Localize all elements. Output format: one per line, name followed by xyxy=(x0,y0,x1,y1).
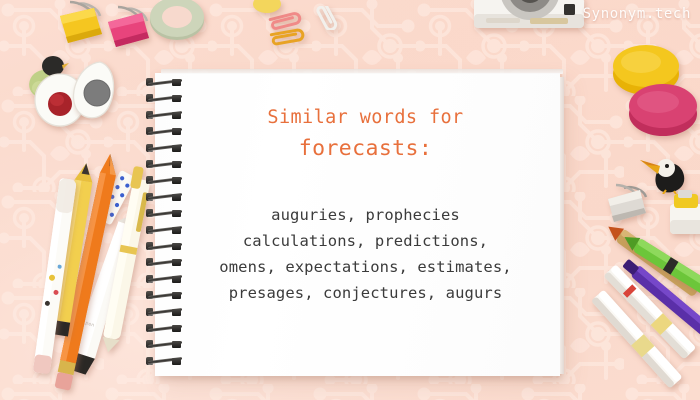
synonym-line: presages, conjectures, augurs xyxy=(185,280,546,306)
spiral-ring xyxy=(146,94,186,102)
synonym-line: calculations, predictions, xyxy=(185,228,546,254)
paperclip-orange xyxy=(266,26,308,48)
spiral-ring xyxy=(146,193,186,201)
spiral-binding xyxy=(146,78,188,373)
spiral-ring xyxy=(146,258,186,266)
sticky-note-yellow xyxy=(252,0,282,14)
spiral-ring xyxy=(146,127,186,135)
camera xyxy=(468,0,592,44)
synonym-line: omens, expectations, estimates, xyxy=(185,254,546,280)
notepad: Similar words for forecasts: auguries, p… xyxy=(155,73,560,376)
paperclip-white xyxy=(308,6,344,30)
synonym-line: auguries, prophecies xyxy=(185,202,546,228)
spiral-ring xyxy=(146,78,186,86)
site-logo: Synonym.tech xyxy=(583,6,691,22)
spiral-ring xyxy=(146,291,186,299)
page-title-headword: forecasts: xyxy=(185,136,546,162)
spiral-ring xyxy=(146,275,186,283)
spiral-ring xyxy=(146,308,186,316)
spiral-ring xyxy=(146,176,186,184)
page-title-prefix: Similar words for xyxy=(185,107,546,129)
spiral-ring xyxy=(146,160,186,168)
spiral-ring xyxy=(146,324,186,332)
spiral-ring xyxy=(146,144,186,152)
pen-white-decorated xyxy=(6,158,102,398)
spiral-ring xyxy=(146,357,186,365)
synonym-list: auguries, prophecies calculations, predi… xyxy=(185,202,546,306)
eraser-white-gray xyxy=(64,60,120,124)
spiral-ring xyxy=(146,209,186,217)
marker-white-2 xyxy=(580,272,700,400)
spiral-ring xyxy=(146,226,186,234)
notepad-sheet: Similar words for forecasts: auguries, p… xyxy=(185,91,546,366)
spiral-ring xyxy=(146,340,186,348)
washi-tape-roll xyxy=(148,0,206,44)
spiral-ring xyxy=(146,242,186,250)
macaron-pink xyxy=(626,78,700,138)
spiral-ring xyxy=(146,111,186,119)
